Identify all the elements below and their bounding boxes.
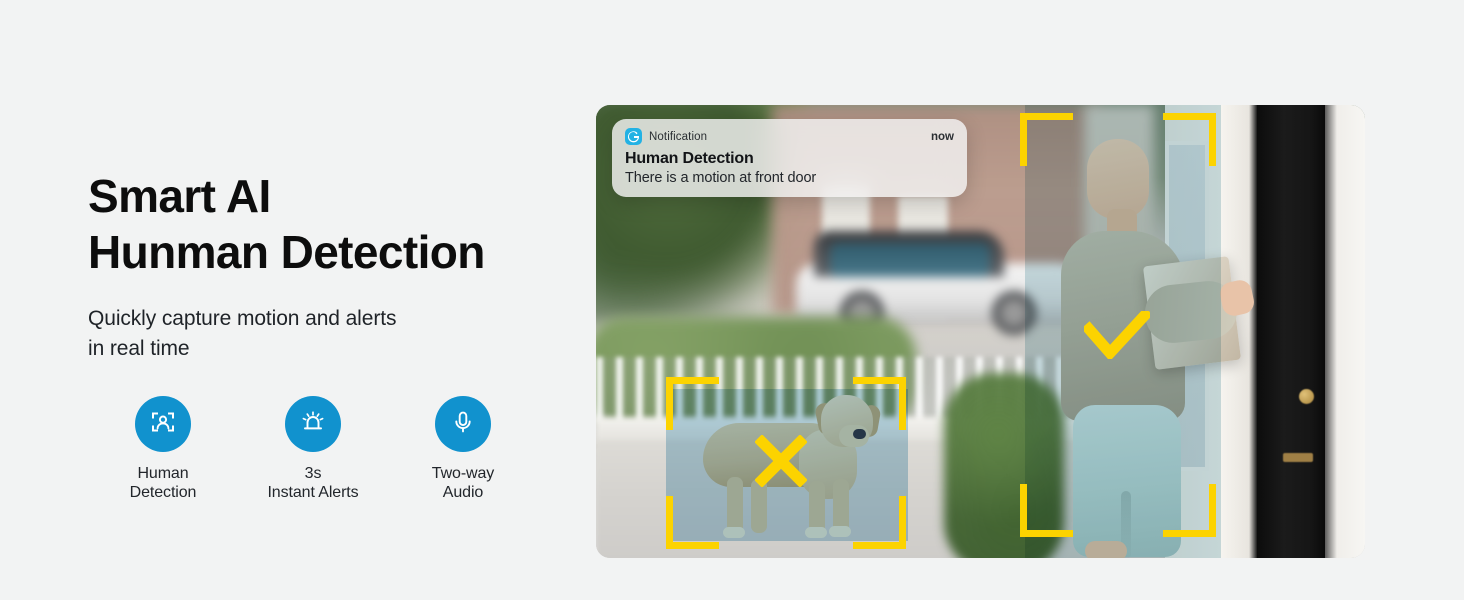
page-title: Smart AI Hunman Detection: [88, 168, 568, 280]
bracket-corner-bottom-left: [666, 496, 719, 549]
bracket-corner-top-right: [1163, 113, 1216, 166]
microphone-badge: [435, 396, 491, 452]
bracket-corner-bottom-right: [1163, 484, 1216, 537]
marketing-copy-block: Smart AI Hunman Detection Quickly captur…: [88, 168, 568, 364]
app-logo-icon: [625, 128, 642, 145]
microphone-icon: [448, 407, 478, 442]
feature-label: Two-way Audio: [432, 464, 494, 502]
camera-view-image: Notification now Human Detection There i…: [596, 105, 1365, 558]
feature-label: Human Detection: [130, 464, 197, 502]
feature-list: Human Detection 3s Instant Alerts: [88, 396, 538, 502]
notification-header: Notification now: [625, 128, 954, 145]
bracket-corner-top-left: [666, 377, 719, 430]
notification-timestamp: now: [931, 131, 954, 143]
instant-alert-icon: [298, 407, 328, 442]
car-window: [830, 243, 990, 277]
bracket-corner-bottom-left: [1020, 484, 1073, 537]
feature-item-human-detection: Human Detection: [88, 396, 238, 502]
dog-detection-bracket: [666, 377, 906, 549]
notification-app-name: Notification: [649, 131, 707, 143]
person-detection-bracket: [1020, 113, 1216, 537]
human-detection-icon: [148, 407, 178, 442]
feature-item-instant-alerts: 3s Instant Alerts: [238, 396, 388, 502]
page-subtitle: Quickly capture motion and alerts in rea…: [88, 304, 568, 364]
door-mail-slot: [1283, 453, 1313, 462]
human-detection-badge: [135, 396, 191, 452]
notification-title: Human Detection: [625, 150, 954, 168]
feature-item-two-way-audio: Two-way Audio: [388, 396, 538, 502]
instant-alert-badge: [285, 396, 341, 452]
door-knob: [1299, 389, 1314, 404]
notification-banner[interactable]: Notification now Human Detection There i…: [612, 119, 967, 197]
notification-message: There is a motion at front door: [625, 170, 954, 186]
bracket-corner-bottom-right: [853, 496, 906, 549]
bracket-corner-top-left: [1020, 113, 1073, 166]
front-door-panel: [1257, 105, 1325, 558]
feature-label: 3s Instant Alerts: [267, 464, 358, 502]
bracket-corner-top-right: [853, 377, 906, 430]
